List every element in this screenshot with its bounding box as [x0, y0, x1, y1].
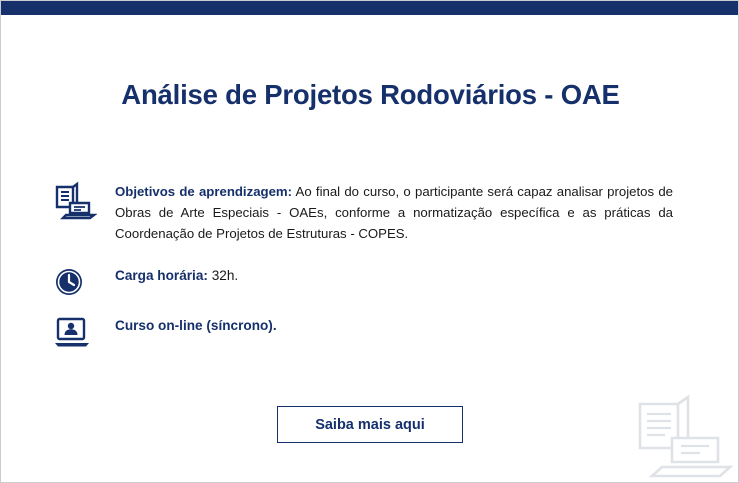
online-course-icon	[53, 316, 115, 348]
saiba-mais-button[interactable]: Saiba mais aqui	[277, 406, 463, 443]
page-title: Análise de Projetos Rodoviários - OAE	[1, 79, 739, 111]
modalidade-line: Curso on-line (síncrono).	[115, 316, 673, 336]
saiba-mais-button-label: Saiba mais aqui	[315, 417, 425, 433]
carga-label: Carga horária:	[115, 268, 208, 283]
carga-line: Carga horária: 32h.	[115, 266, 673, 286]
carga-value: 32h.	[208, 268, 238, 283]
objetivos-paragraph: Objetivos de aprendizagem: Ao final do c…	[115, 181, 673, 244]
modalidade-text-cell: Curso on-line (síncrono).	[115, 316, 673, 336]
book-computer-icon	[53, 181, 115, 221]
modalidade-label: Curso on-line (síncrono).	[115, 318, 277, 333]
course-details: Objetivos de aprendizagem: Ao final do c…	[53, 181, 673, 348]
top-accent-bar	[1, 1, 739, 15]
book-computer-watermark-icon	[632, 392, 739, 483]
detail-row-carga-horaria: Carga horária: 32h.	[53, 266, 673, 298]
course-card: Análise de Projetos Rodoviários - OAE Ob…	[0, 0, 739, 483]
detail-row-objetivos: Objetivos de aprendizagem: Ao final do c…	[53, 181, 673, 244]
objetivos-text-cell: Objetivos de aprendizagem: Ao final do c…	[115, 181, 673, 244]
clock-icon	[53, 266, 115, 298]
objetivos-label: Objetivos de aprendizagem:	[115, 184, 292, 199]
carga-text-cell: Carga horária: 32h.	[115, 266, 673, 286]
detail-row-modalidade: Curso on-line (síncrono).	[53, 316, 673, 348]
